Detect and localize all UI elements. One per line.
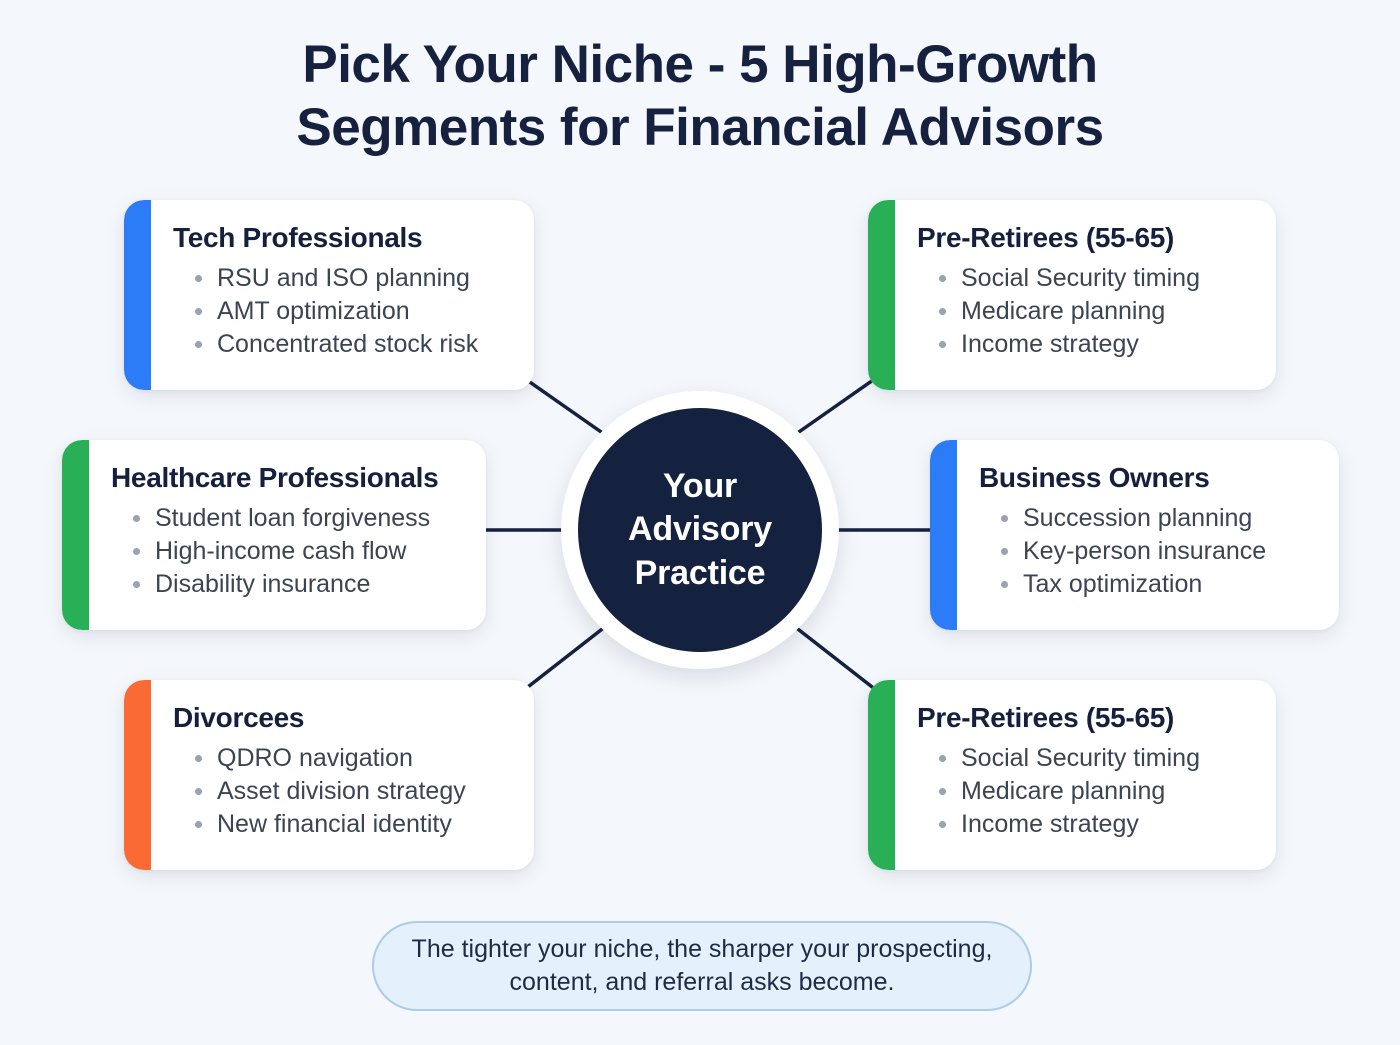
card-pre-retirees-top[interactable]: Pre-Retirees (55-65) Social Security tim… xyxy=(868,200,1276,390)
list-item: QDRO navigation xyxy=(195,742,512,775)
list-item: Social Security timing xyxy=(939,742,1254,775)
title-line-1: Pick Your Niche - 5 High-Growth xyxy=(0,34,1400,97)
list-item-label: Disability insurance xyxy=(155,570,370,598)
card-pre-retirees-bottom[interactable]: Pre-Retirees (55-65) Social Security tim… xyxy=(868,680,1276,870)
page-title: Pick Your Niche - 5 High-Growth Segments… xyxy=(0,34,1400,159)
accent-bar-green xyxy=(62,440,89,630)
card-bullet-list: Succession planning Key-person insurance… xyxy=(979,502,1317,600)
list-item: Medicare planning xyxy=(939,775,1254,808)
card-body: Business Owners Succession planning Key-… xyxy=(957,440,1339,630)
card-body: Pre-Retirees (55-65) Social Security tim… xyxy=(895,680,1276,870)
list-item-label: High-income cash flow xyxy=(155,537,407,565)
bullet-dot-icon xyxy=(195,308,202,315)
card-bullet-list: Student loan forgiveness High-income cas… xyxy=(111,502,464,600)
list-item-label: Concentrated stock risk xyxy=(217,330,478,358)
list-item: Concentrated stock risk xyxy=(195,328,512,361)
card-divorcees[interactable]: Divorcees QDRO navigation Asset division… xyxy=(124,680,534,870)
list-item: Tax optimization xyxy=(1001,568,1317,601)
list-item-label: AMT optimization xyxy=(217,297,410,325)
hub-line-1: Your xyxy=(628,465,772,508)
card-body: Tech Professionals RSU and ISO planning … xyxy=(151,200,534,390)
footer-callout: The tighter your niche, the sharper your… xyxy=(372,921,1032,1011)
center-hub[interactable]: Your Advisory Practice xyxy=(561,391,839,669)
list-item: Disability insurance xyxy=(133,568,464,601)
bullet-dot-icon xyxy=(939,821,946,828)
bullet-dot-icon xyxy=(939,341,946,348)
list-item-label: New financial identity xyxy=(217,810,452,838)
list-item-label: Asset division strategy xyxy=(217,777,466,805)
bullet-dot-icon xyxy=(195,821,202,828)
list-item: Succession planning xyxy=(1001,502,1317,535)
accent-bar-green xyxy=(868,200,895,390)
card-healthcare-professionals[interactable]: Healthcare Professionals Student loan fo… xyxy=(62,440,486,630)
list-item-label: Social Security timing xyxy=(961,744,1200,772)
card-body: Healthcare Professionals Student loan fo… xyxy=(89,440,486,630)
center-hub-circle: Your Advisory Practice xyxy=(578,408,822,652)
footer-text: The tighter your niche, the sharper your… xyxy=(404,933,1000,999)
card-title: Divorcees xyxy=(173,702,512,734)
list-item: RSU and ISO planning xyxy=(195,262,512,295)
accent-bar-green xyxy=(868,680,895,870)
card-business-owners[interactable]: Business Owners Succession planning Key-… xyxy=(930,440,1339,630)
card-bullet-list: RSU and ISO planning AMT optimization Co… xyxy=(173,262,512,360)
list-item: Student loan forgiveness xyxy=(133,502,464,535)
card-bullet-list: Social Security timing Medicare planning… xyxy=(917,742,1254,840)
list-item-label: Income strategy xyxy=(961,330,1139,358)
hub-line-3: Practice xyxy=(628,552,772,595)
list-item-label: Key-person insurance xyxy=(1023,537,1266,565)
card-tech-professionals[interactable]: Tech Professionals RSU and ISO planning … xyxy=(124,200,534,390)
list-item: Income strategy xyxy=(939,808,1254,841)
list-item: High-income cash flow xyxy=(133,535,464,568)
bullet-dot-icon xyxy=(939,755,946,762)
list-item: Key-person insurance xyxy=(1001,535,1317,568)
bullet-dot-icon xyxy=(195,275,202,282)
bullet-dot-icon xyxy=(939,788,946,795)
card-bullet-list: Social Security timing Medicare planning… xyxy=(917,262,1254,360)
list-item-label: Medicare planning xyxy=(961,777,1165,805)
accent-bar-blue xyxy=(930,440,957,630)
footer-line-1: The tighter your niche, the sharper your xyxy=(412,935,850,963)
card-title: Pre-Retirees (55-65) xyxy=(917,222,1254,254)
bullet-dot-icon xyxy=(1001,581,1008,588)
bullet-dot-icon xyxy=(939,308,946,315)
list-item-label: Succession planning xyxy=(1023,504,1252,532)
bullet-dot-icon xyxy=(195,341,202,348)
bullet-dot-icon xyxy=(133,548,140,555)
list-item: New financial identity xyxy=(195,808,512,841)
card-title: Healthcare Professionals xyxy=(111,462,464,494)
bullet-dot-icon xyxy=(195,788,202,795)
card-body: Pre-Retirees (55-65) Social Security tim… xyxy=(895,200,1276,390)
card-bullet-list: QDRO navigation Asset division strategy … xyxy=(173,742,512,840)
hub-line-2: Advisory xyxy=(628,508,772,551)
list-item-label: Income strategy xyxy=(961,810,1139,838)
infographic-canvas: Pick Your Niche - 5 High-Growth Segments… xyxy=(0,0,1400,1045)
list-item: Income strategy xyxy=(939,328,1254,361)
bullet-dot-icon xyxy=(1001,515,1008,522)
list-item-label: Student loan forgiveness xyxy=(155,504,430,532)
list-item: Social Security timing xyxy=(939,262,1254,295)
bullet-dot-icon xyxy=(195,755,202,762)
card-body: Divorcees QDRO navigation Asset division… xyxy=(151,680,534,870)
bullet-dot-icon xyxy=(133,515,140,522)
list-item: Asset division strategy xyxy=(195,775,512,808)
center-hub-label: Your Advisory Practice xyxy=(628,465,772,595)
bullet-dot-icon xyxy=(939,275,946,282)
accent-bar-orange xyxy=(124,680,151,870)
card-title: Tech Professionals xyxy=(173,222,512,254)
list-item: Medicare planning xyxy=(939,295,1254,328)
list-item-label: QDRO navigation xyxy=(217,744,413,772)
list-item-label: Social Security timing xyxy=(961,264,1200,292)
list-item: AMT optimization xyxy=(195,295,512,328)
list-item-label: RSU and ISO planning xyxy=(217,264,470,292)
card-title: Pre-Retirees (55-65) xyxy=(917,702,1254,734)
card-title: Business Owners xyxy=(979,462,1317,494)
list-item-label: Tax optimization xyxy=(1023,570,1202,598)
bullet-dot-icon xyxy=(1001,548,1008,555)
accent-bar-blue xyxy=(124,200,151,390)
bullet-dot-icon xyxy=(133,581,140,588)
title-line-2: Segments for Financial Advisors xyxy=(0,97,1400,160)
list-item-label: Medicare planning xyxy=(961,297,1165,325)
